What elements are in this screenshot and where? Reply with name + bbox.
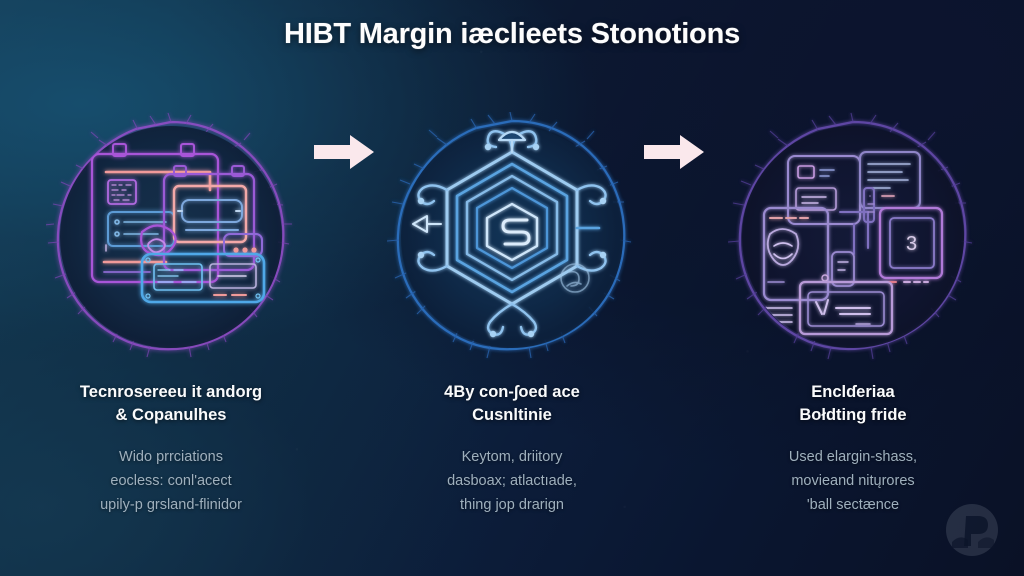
step-card-1: Tecnrosereeu it andorg & Copanulhes Wido… — [1, 112, 342, 518]
step-1-illustration — [46, 112, 296, 362]
neon-hexagon-circuit-icon — [387, 112, 637, 362]
step-2-heading: 4By con-∫oed ace Cusnltinie — [444, 381, 580, 428]
step-1-body-line-3: upily-p grsland-flinidor — [100, 494, 242, 518]
svg-text:3: 3 — [906, 233, 917, 255]
step-1-heading-line-1: Tecnrosereeu it andorg — [80, 381, 262, 404]
step-1-body: Wido prrciations eocless: conl'acect upi… — [100, 446, 242, 518]
step-1-heading-line-2: & Copanulhes — [80, 404, 262, 427]
step-3-body: Used elargin-shass, movieand nitųrores '… — [789, 446, 917, 518]
step-2-illustration — [387, 112, 637, 362]
step-3-body-line-1: Used elargin-shass, — [789, 446, 917, 470]
step-2-body-line-1: Keytom, driitory — [447, 446, 577, 470]
neon-dashboard-panels-icon — [46, 112, 296, 362]
step-card-3: 3 — [683, 112, 1024, 518]
step-2-body-line-2: dasboax; atlactıade, — [447, 470, 577, 494]
page-title: HIBT Margin iæclieets Stonotions — [0, 18, 1024, 51]
step-3-heading-line-1: Enclɗeriaa — [799, 381, 906, 404]
step-2-body-line-3: thing jop drarign — [447, 494, 577, 518]
neon-device-grid-icon: 3 — [728, 112, 978, 362]
step-3-heading: Enclɗeriaa Bołdting fride — [799, 381, 906, 428]
watermark-logo-icon — [944, 502, 1000, 558]
step-card-2: 4By con-∫oed ace Cusnltinie Keytom, drii… — [342, 112, 683, 518]
step-3-heading-line-2: Bołdting fride — [799, 404, 906, 427]
step-1-body-line-2: eocless: conl'acect — [100, 470, 242, 494]
step-1-heading: Tecnrosereeu it andorg & Copanulhes — [80, 381, 262, 428]
step-3-body-line-3: 'ball sectænce — [789, 494, 917, 518]
step-3-illustration: 3 — [728, 112, 978, 362]
step-2-heading-line-1: 4By con-∫oed ace — [444, 381, 580, 404]
steps-row: Tecnrosereeu it andorg & Copanulhes Wido… — [0, 112, 1024, 532]
step-2-body: Keytom, driitory dasboax; atlactıade, th… — [447, 446, 577, 518]
diagram-canvas: HIBT Margin iæclieets Stonotions — [0, 0, 1024, 576]
step-1-body-line-1: Wido prrciations — [100, 446, 242, 470]
step-3-body-line-2: movieand nitųrores — [789, 470, 917, 494]
step-2-heading-line-2: Cusnltinie — [444, 404, 580, 427]
